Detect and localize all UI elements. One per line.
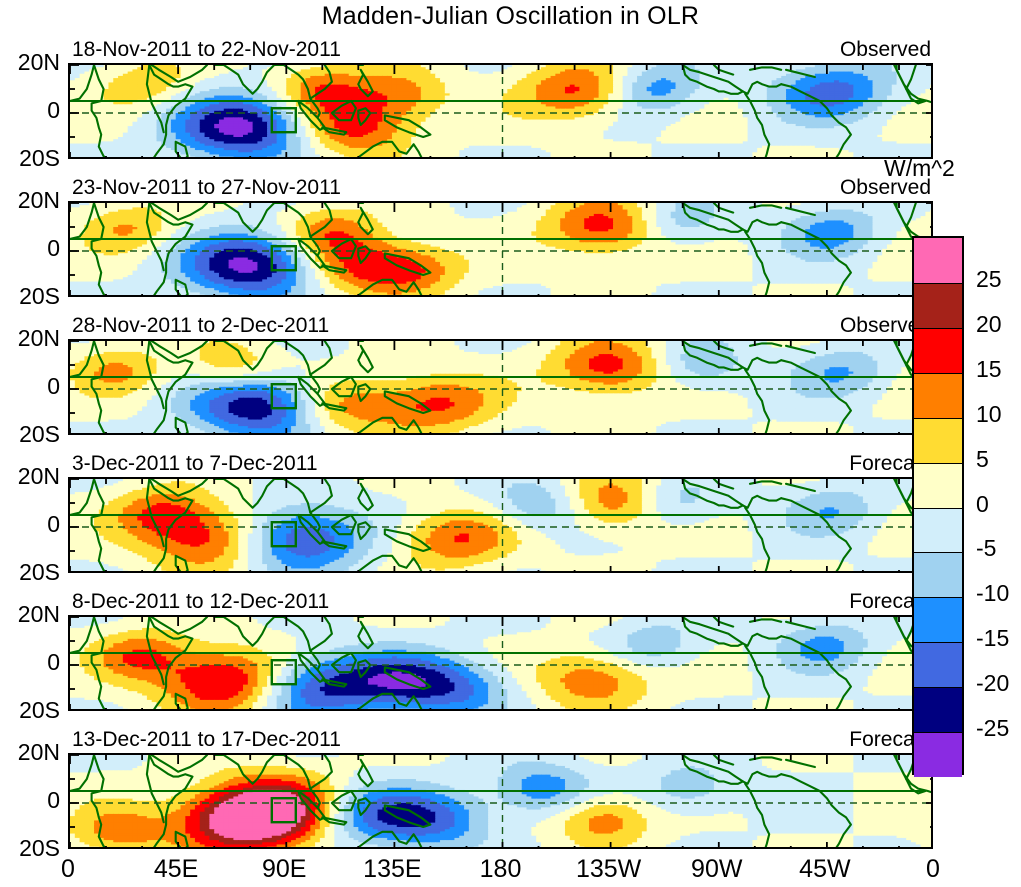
map-panel-2: 23-Nov-2011 to 27-Nov-2011Observed <box>68 201 933 297</box>
y-tick-label: 20S <box>19 421 60 448</box>
colorbar-scale <box>912 236 964 775</box>
colorbar-tick-label: -5 <box>976 535 996 562</box>
olr-anomaly-map-3 <box>68 339 933 435</box>
panel-date-range-3: 28-Nov-2011 to 2-Dec-2011 <box>72 314 329 338</box>
y-tick-label: 20N <box>18 49 60 76</box>
colorbar-band <box>914 463 962 508</box>
colorbar-tick-label: -10 <box>976 580 1009 607</box>
colorbar-band <box>914 508 962 553</box>
colorbar-band <box>914 283 962 328</box>
panel-date-range-5: 8-Dec-2011 to 12-Dec-2011 <box>72 590 329 614</box>
y-tick-label: 20S <box>19 697 60 724</box>
y-tick-label: 20S <box>19 145 60 172</box>
colorbar-band <box>914 328 962 373</box>
x-tick-label: 90W <box>657 855 777 884</box>
panel-date-range-1: 18-Nov-2011 to 22-Nov-2011 <box>72 38 341 62</box>
map-panel-1: 18-Nov-2011 to 22-Nov-2011Observed <box>68 63 933 159</box>
map-panel-6: 13-Dec-2011 to 17-Dec-2011Forecast <box>68 753 933 849</box>
x-tick-label: 90E <box>224 855 344 884</box>
colorbar-band <box>914 597 962 642</box>
colorbar-band <box>914 732 962 777</box>
y-tick-label: 20S <box>19 283 60 310</box>
y-tick-label: 0 <box>47 373 60 400</box>
olr-anomaly-map-5 <box>68 615 933 711</box>
colorbar-tick-label: 15 <box>976 356 1002 383</box>
colorbar-band <box>914 418 962 463</box>
colorbar-band <box>914 687 962 732</box>
panel-date-range-6: 13-Dec-2011 to 17-Dec-2011 <box>72 728 341 752</box>
colorbar-tick-label: 20 <box>976 311 1002 338</box>
x-tick-label: 135W <box>549 855 669 884</box>
panel-status-1: Observed <box>840 38 931 62</box>
page-title: Madden-Julian Oscillation in OLR <box>0 2 1021 31</box>
colorbar-band-divider <box>914 687 962 688</box>
colorbar-unit-label: W/m^2 <box>884 155 955 182</box>
colorbar-band-divider <box>914 463 962 464</box>
x-tick-label: 135E <box>332 855 452 884</box>
y-tick-label: 20N <box>18 463 60 490</box>
panel-date-range-2: 23-Nov-2011 to 27-Nov-2011 <box>72 176 341 200</box>
y-tick-label: 0 <box>47 235 60 262</box>
colorbar-tick-label: 10 <box>976 401 1002 428</box>
colorbar-band-divider <box>914 373 962 374</box>
colorbar-band <box>914 373 962 418</box>
colorbar-band <box>914 238 962 283</box>
colorbar-tick-label: -15 <box>976 625 1009 652</box>
y-tick-label: 20N <box>18 187 60 214</box>
map-panel-4: 3-Dec-2011 to 7-Dec-2011Forecast <box>68 477 933 573</box>
colorbar-band-divider <box>914 642 962 643</box>
x-tick-label: 180 <box>441 855 561 884</box>
colorbar-band <box>914 642 962 687</box>
olr-anomaly-map-4 <box>68 477 933 573</box>
colorbar-band-divider <box>914 418 962 419</box>
colorbar-band-divider <box>914 732 962 733</box>
x-tick-label: 45E <box>116 855 236 884</box>
map-panel-5: 8-Dec-2011 to 12-Dec-2011Forecast <box>68 615 933 711</box>
y-tick-label: 0 <box>47 511 60 538</box>
y-tick-label: 0 <box>47 649 60 676</box>
colorbar-band-divider <box>914 597 962 598</box>
y-tick-label: 20N <box>18 601 60 628</box>
x-tick-label: 0 <box>873 855 993 884</box>
y-tick-label: 20S <box>19 559 60 586</box>
y-tick-label: 20S <box>19 835 60 862</box>
colorbar-band-divider <box>914 283 962 284</box>
colorbar-tick-label: 25 <box>976 266 1002 293</box>
colorbar-band-divider <box>914 552 962 553</box>
y-tick-label: 20N <box>18 325 60 352</box>
colorbar-band-divider <box>914 508 962 509</box>
colorbar-tick-label: 5 <box>976 446 989 473</box>
x-tick-label: 45W <box>765 855 885 884</box>
colorbar-tick-label: 0 <box>976 491 989 518</box>
y-tick-label: 0 <box>47 787 60 814</box>
olr-anomaly-map-2 <box>68 201 933 297</box>
y-tick-label: 20N <box>18 739 60 766</box>
colorbar-tick-label: -25 <box>976 715 1009 742</box>
figure: Madden-Julian Oscillation in OLR 18-Nov-… <box>0 0 1021 887</box>
colorbar-tick-label: -20 <box>976 670 1009 697</box>
map-panel-3: 28-Nov-2011 to 2-Dec-2011Observed <box>68 339 933 435</box>
panel-date-range-4: 3-Dec-2011 to 7-Dec-2011 <box>72 452 318 476</box>
olr-anomaly-map-6 <box>68 753 933 849</box>
olr-anomaly-map-1 <box>68 63 933 159</box>
colorbar-band <box>914 552 962 597</box>
colorbar-band-divider <box>914 328 962 329</box>
y-tick-label: 0 <box>47 97 60 124</box>
